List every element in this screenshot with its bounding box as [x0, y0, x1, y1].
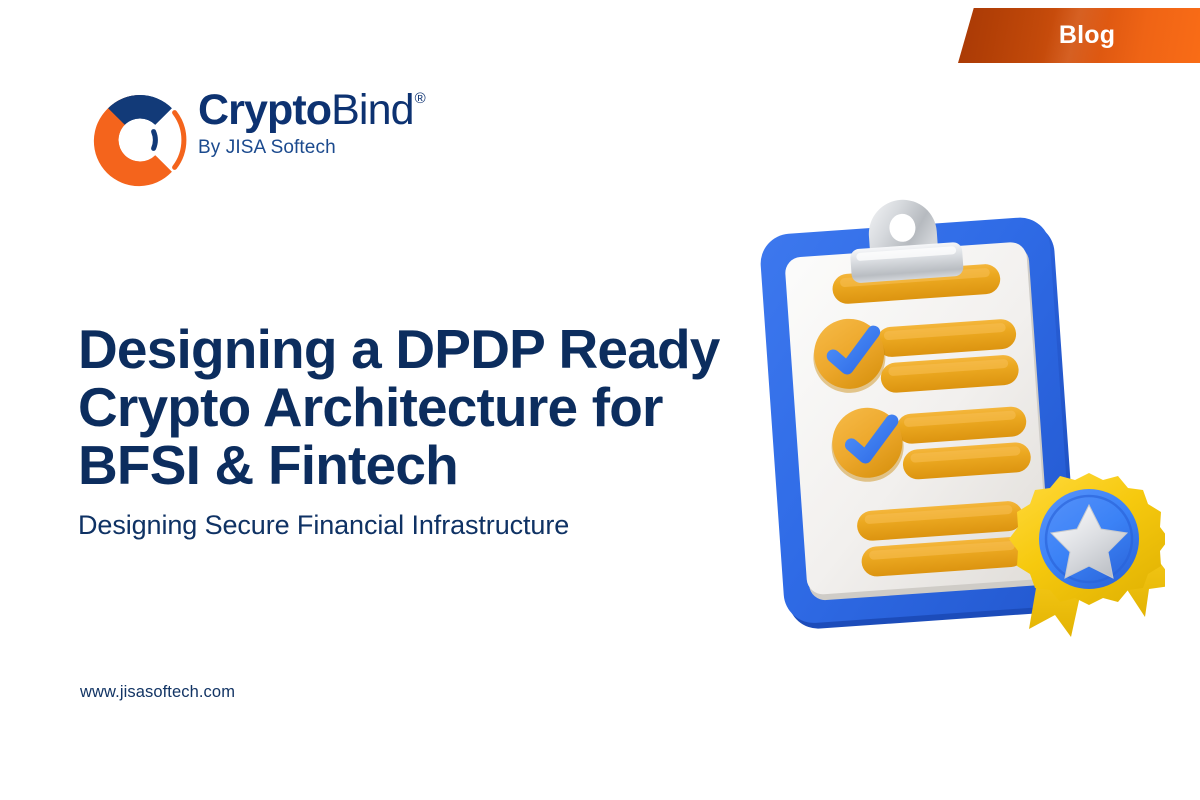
logo-word-crypto: Crypto — [198, 86, 331, 134]
headline-block: Designing a DPDP Ready Crypto Architectu… — [78, 320, 778, 542]
brand-logo[interactable]: CryptoBind® By JISA Softech — [88, 84, 488, 194]
logo-word-bind: Bind — [331, 86, 413, 134]
page-subtitle: Designing Secure Financial Infrastructur… — [78, 508, 778, 542]
award-badge-icon — [1009, 473, 1165, 637]
cryptobind-logo-mark-icon — [88, 88, 192, 192]
page-title: Designing a DPDP Ready Crypto Architectu… — [78, 320, 778, 494]
poster-canvas: Blog Cryp — [0, 0, 1200, 800]
website-url[interactable]: www.jisasoftech.com — [80, 683, 235, 702]
clipboard-checklist-illustration — [755, 175, 1165, 645]
logo-text-group: CryptoBind® By JISA Softech — [198, 88, 498, 159]
page-title-line-2: Crypto Architecture for — [78, 378, 778, 436]
logo-wordmark: CryptoBind® — [198, 88, 498, 133]
logo-tagline: By JISA Softech — [198, 137, 498, 159]
blog-ribbon-label: Blog — [1043, 21, 1115, 50]
registered-trademark-icon: ® — [415, 90, 425, 107]
blog-ribbon-banner: Blog — [958, 8, 1200, 63]
page-title-line-1: Designing a DPDP Ready — [78, 320, 778, 378]
page-title-line-3: BFSI & Fintech — [78, 436, 778, 494]
